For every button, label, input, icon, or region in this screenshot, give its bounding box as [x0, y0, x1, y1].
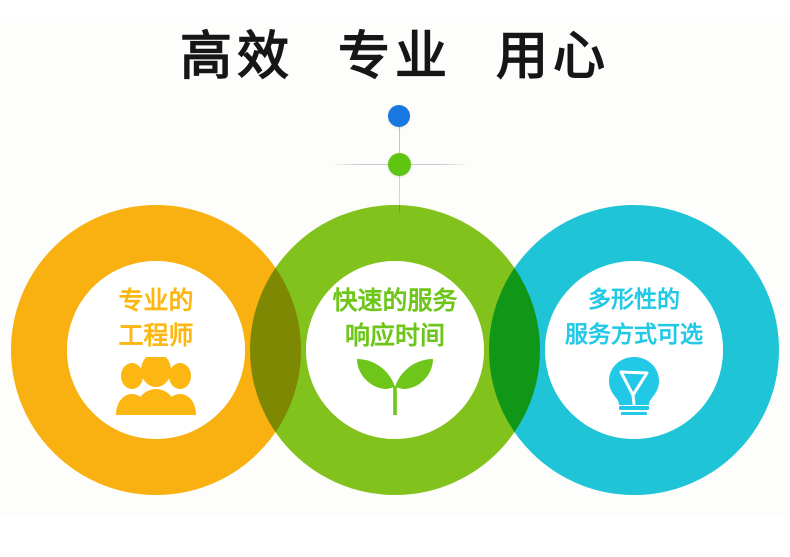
circle-engineers-line-2: 工程师: [118, 318, 193, 353]
poster-canvas: 高效专业用心 专业的 工程师: [0, 0, 790, 557]
circle-service-modes[interactable]: 多形性的 服务方式可选: [545, 261, 723, 439]
bottom-margin: [0, 515, 790, 557]
circle-response-time-line-1: 快速的服务: [332, 283, 457, 318]
circle-engineers-text: 专业的 工程师: [118, 283, 193, 353]
circle-response-time[interactable]: 快速的服务 响应时间: [306, 261, 484, 439]
circle-service-modes-line-2: 服务方式可选: [565, 318, 703, 353]
circle-service-modes-text: 多形性的 服务方式可选: [565, 283, 703, 353]
circle-engineers[interactable]: 专业的 工程师: [67, 261, 245, 439]
circle-engineers-line-1: 专业的: [118, 283, 193, 318]
sprout-leaf-icon: [349, 357, 441, 415]
lightbulb-icon: [588, 357, 680, 415]
circle-response-time-text: 快速的服务 响应时间: [332, 283, 457, 353]
circle-response-time-line-2: 响应时间: [332, 318, 457, 353]
people-group-icon: [110, 357, 202, 415]
circle-service-modes-line-1: 多形性的: [565, 283, 703, 318]
